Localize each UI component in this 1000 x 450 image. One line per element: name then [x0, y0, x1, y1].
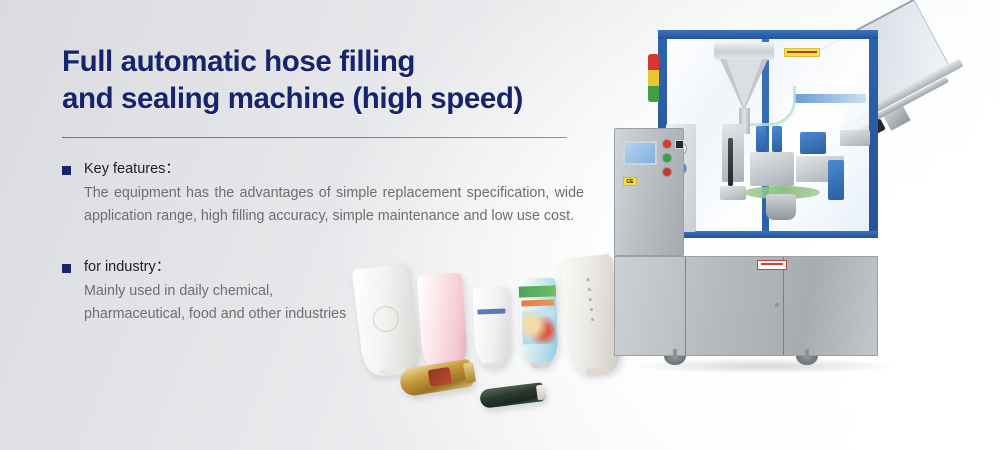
frame-beam-top	[658, 30, 878, 39]
dark-green-tube	[479, 382, 545, 409]
for-industry-body: Mainly used in daily chemical, pharmaceu…	[84, 280, 356, 326]
key-features-heading-row: Key features：	[62, 160, 592, 180]
white-orchid-tube	[352, 263, 421, 377]
stop-button	[663, 168, 671, 176]
for-industry-heading: for industry：	[84, 258, 170, 278]
square-bullet-icon	[62, 166, 71, 175]
tube-orange-band	[521, 299, 554, 306]
title-divider	[62, 137, 567, 138]
filling-nozzle-assembly	[722, 124, 744, 182]
cabinet-lock-icon	[775, 303, 779, 307]
upper-rail	[840, 130, 870, 146]
product-hopper	[714, 42, 774, 60]
safety-label	[757, 260, 787, 270]
tower-light-icon	[648, 54, 659, 102]
tube-cap	[530, 362, 549, 369]
turntable-hub	[766, 194, 796, 220]
white-blue-tube	[473, 286, 512, 367]
sealing-head-right	[772, 126, 782, 152]
tube-cap	[536, 384, 547, 400]
start-button	[663, 154, 671, 162]
machine-photo: CE	[608, 28, 1000, 400]
hmi-touchscreen[interactable]	[623, 141, 657, 165]
push-button-group[interactable]	[663, 140, 675, 182]
tube-badge-icon	[427, 367, 451, 387]
product-banner: Full automatic hose filling and sealing …	[0, 0, 1000, 450]
tube-brand-band	[477, 309, 505, 315]
tube-dot-motif-icon	[587, 278, 595, 328]
emergency-stop-button	[663, 140, 671, 148]
tube-green-band	[519, 285, 556, 297]
machine-base-cabinet	[614, 256, 878, 356]
feature-block-key-features: Key features： The equipment has the adva…	[62, 160, 592, 228]
warning-sticker	[784, 48, 820, 57]
control-cabinet[interactable]: CE	[614, 128, 684, 256]
drive-unit	[800, 132, 826, 154]
frame-beam-bottom	[658, 231, 878, 238]
sealing-station	[750, 152, 794, 186]
orchid-motif-icon	[371, 305, 400, 334]
tube-cap	[586, 366, 611, 376]
sealing-head-left	[756, 126, 766, 152]
pink-cristina-tube	[417, 273, 469, 372]
tube-artwork	[522, 309, 556, 344]
cabinet-door-divider	[783, 257, 784, 355]
key-features-heading: Key features：	[84, 160, 180, 180]
key-features-body: The equipment has the advantages of simp…	[84, 182, 584, 228]
selector-switch[interactable]	[675, 140, 684, 149]
tube-cap	[484, 363, 502, 370]
nozzle-shaft	[728, 138, 733, 186]
machine-brand-strip	[794, 94, 866, 103]
cabinet-door-divider	[685, 257, 686, 355]
filling-sealing-mechanism	[720, 124, 876, 232]
tube-cap	[463, 362, 476, 383]
tube-holder	[720, 186, 746, 200]
product-tubes-photo	[352, 252, 620, 427]
ce-label: CE	[623, 177, 637, 186]
page-title: Full automatic hose filling and sealing …	[62, 44, 592, 117]
conveyor-drive	[828, 160, 844, 200]
sunplay-tube	[518, 277, 558, 366]
square-bullet-icon	[62, 264, 71, 273]
